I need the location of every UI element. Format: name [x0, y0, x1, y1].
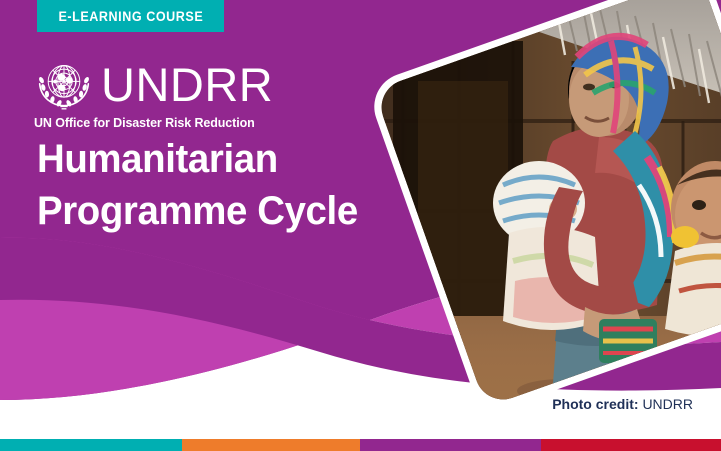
photo-credit: Photo credit: UNDRR [552, 396, 693, 412]
color-bar-segment-purple [360, 439, 540, 451]
headline-line-2: Programme Cycle [37, 185, 402, 237]
elearning-course-badge: E-LEARNING COURSE [37, 0, 224, 32]
badge-label: E-LEARNING COURSE [58, 9, 203, 24]
un-emblem-icon [33, 57, 95, 113]
headline-line-1: Humanitarian [37, 133, 402, 185]
color-bar-segment-red [541, 439, 721, 451]
undrr-tagline: UN Office for Disaster Risk Reduction [34, 116, 273, 130]
undrr-logo: UNDRR UN Office for Disaster Risk Reduct… [33, 57, 273, 130]
color-bar-segment-orange [182, 439, 361, 451]
undrr-wordmark: UNDRR [101, 61, 273, 108]
bottom-color-bar [0, 439, 721, 451]
page-title: Humanitarian Programme Cycle [37, 133, 402, 237]
color-bar-segment-teal [0, 439, 182, 451]
logo-row: UNDRR [33, 57, 273, 113]
photo-credit-value: UNDRR [642, 396, 693, 412]
photo-credit-label: Photo credit: [552, 396, 638, 412]
elearning-course-banner: E-LEARNING COURSE [0, 0, 721, 451]
